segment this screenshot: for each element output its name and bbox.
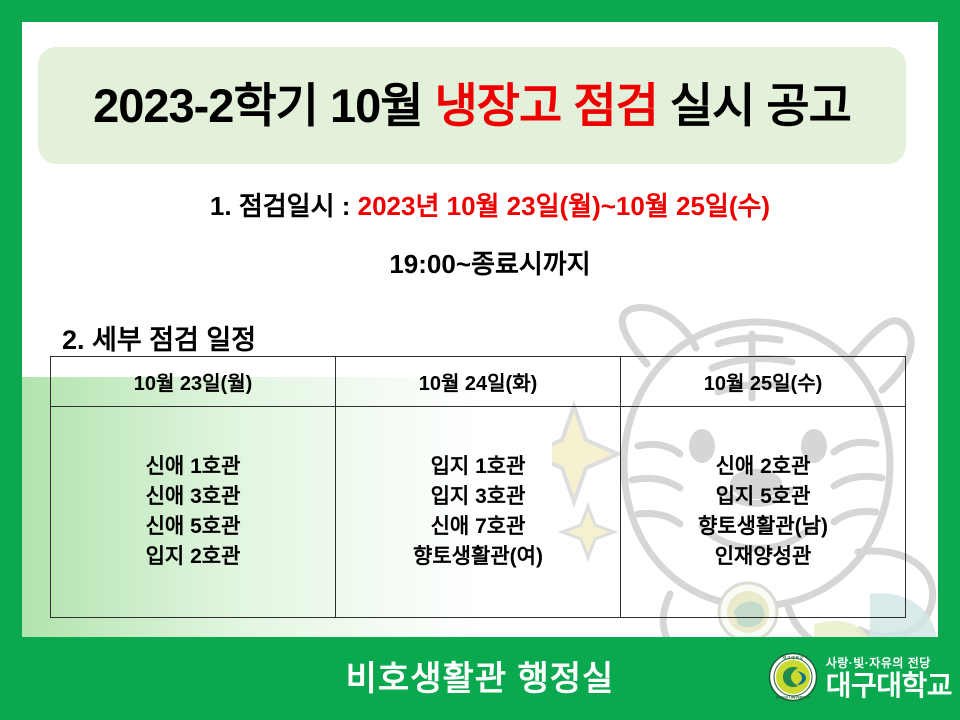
table-cell-buildings-day-1: 신애 1호관신애 3호관신애 5호관입지 2호관 <box>51 407 336 618</box>
university-logo-text: 사랑·빛·자유의 전당 대구대학교 <box>826 654 952 700</box>
table-cell-buildings-day-2: 입지 1호관입지 3호관신애 7호관향토생활관(여) <box>336 407 621 618</box>
footer-band: 비호생활관 행정실 대 구 대 학 교 DAEGU UNIVERSITY <box>0 637 960 720</box>
title-highlight: 냉장고 점검 <box>435 79 658 132</box>
university-tagline: 사랑·빛·자유의 전당 <box>826 654 952 671</box>
table-header-row: 10월 23일(월) 10월 24일(화) 10월 25일(수) <box>51 357 906 407</box>
inspection-datetime-label: 1. 점검일시 : <box>210 191 358 221</box>
university-logo: 대 구 대 학 교 DAEGU UNIVERSITY 사랑·빛·자유의 전당 대… <box>768 645 952 709</box>
title-tail: 실시 공고 <box>658 79 851 132</box>
inspection-datetime-line: 1. 점검일시 : 2023년 10월 23일(월)~10월 25일(수) <box>60 186 920 223</box>
university-name: 대구대학교 <box>826 672 952 700</box>
building-list-day-1: 신애 1호관신애 3호관신애 5호관입지 2호관 <box>51 452 335 571</box>
page-title: 2023-2학기 10월 냉장고 점검 실시 공고 <box>93 82 851 129</box>
table-header-day-2: 10월 24일(화) <box>336 357 621 407</box>
svg-text:DAEGU UNIVERSITY: DAEGU UNIVERSITY <box>775 696 810 700</box>
table-header-day-3: 10월 25일(수) <box>621 357 906 407</box>
building-list-day-3: 신애 2호관입지 5호관향토생활관(남)인재양성관 <box>621 452 905 571</box>
university-emblem-icon: 대 구 대 학 교 DAEGU UNIVERSITY <box>768 652 818 702</box>
title-lead: 2023-2학기 10월 <box>93 79 434 132</box>
table-row: 신애 1호관신애 3호관신애 5호관입지 2호관 입지 1호관입지 3호관신애 … <box>51 407 906 618</box>
inspection-date-range: 2023년 10월 23일(월)~10월 25일(수) <box>358 191 770 221</box>
building-list-day-2: 입지 1호관입지 3호관신애 7호관향토생활관(여) <box>336 452 620 571</box>
inspection-time: 19:00~종료시까지 <box>60 244 920 281</box>
table-header-day-1: 10월 23일(월) <box>51 357 336 407</box>
table-cell-buildings-day-3: 신애 2호관입지 5호관향토생활관(남)인재양성관 <box>621 407 906 618</box>
detailed-schedule-heading: 2. 세부 점검 일정 <box>62 318 256 357</box>
poster-content-sheet: 2023-2학기 10월 냉장고 점검 실시 공고 1. 점검일시 : 2023… <box>22 22 938 637</box>
svg-text:대 구 대 학 교: 대 구 대 학 교 <box>783 655 804 660</box>
title-banner: 2023-2학기 10월 냉장고 점검 실시 공고 <box>38 47 906 164</box>
schedule-table: 10월 23일(월) 10월 24일(화) 10월 25일(수) 신애 1호관신… <box>50 356 906 618</box>
announcement-poster: 2023-2학기 10월 냉장고 점검 실시 공고 1. 점검일시 : 2023… <box>0 0 960 720</box>
